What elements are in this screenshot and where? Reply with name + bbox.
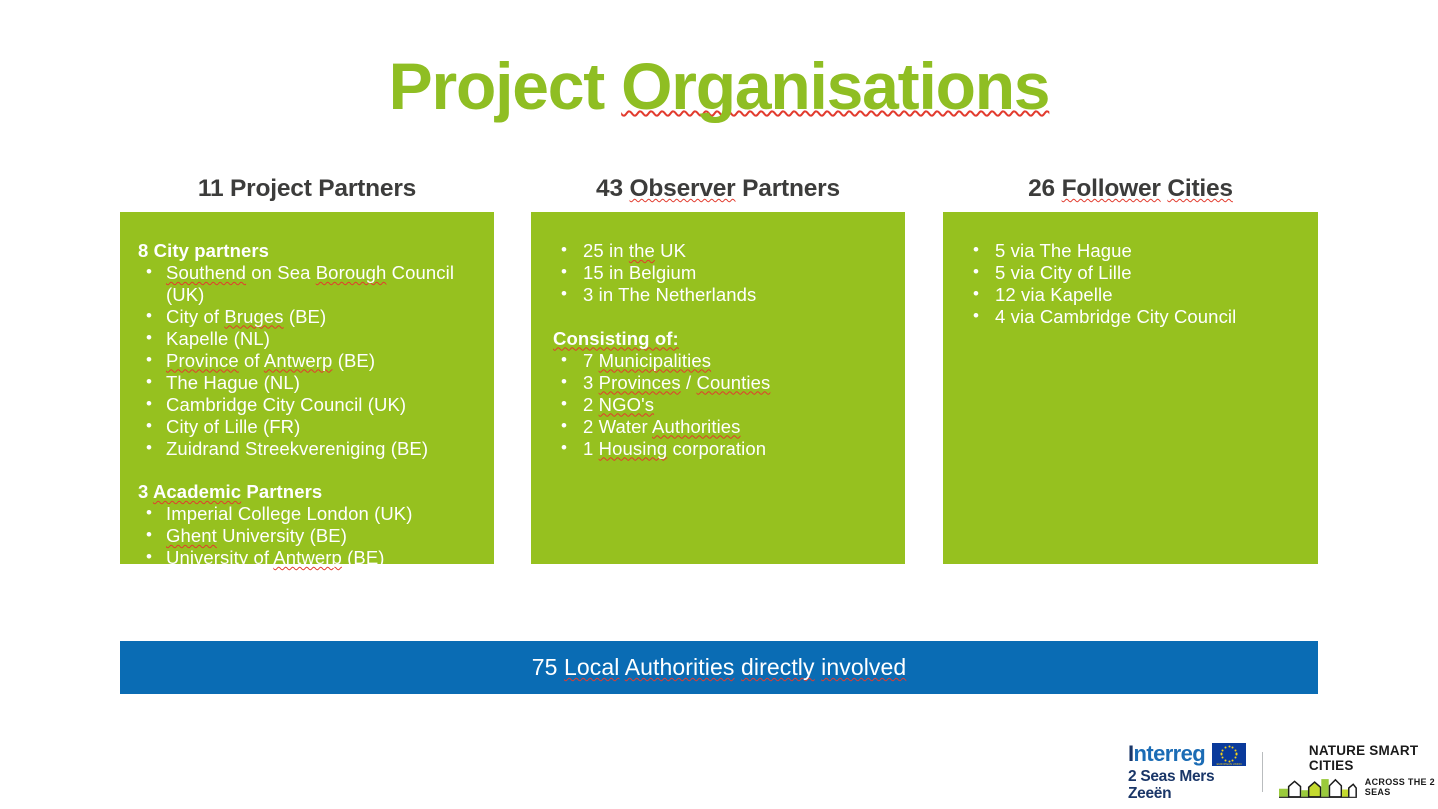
column-box-project-partners: 8 City partners Southend on Sea Borough … [120, 212, 494, 564]
interreg-logo: Interreg EUROPEAN UNION [1128, 743, 1246, 802]
list-item: 15 in Belgium [553, 262, 887, 284]
eu-stars [1222, 746, 1237, 761]
page-title-plain: Project [389, 49, 622, 123]
list-item: City of Lille (FR) [138, 416, 476, 438]
nsc-subtitle: ACROSS THE 2 SEAS [1365, 777, 1438, 797]
summary-banner: 75 Local Authorities directly involved [120, 641, 1318, 694]
column-heading-text: 11 Project Partners [198, 175, 416, 202]
list-item: Imperial College London (UK) [138, 503, 476, 525]
list-academic-partners: Imperial College London (UK) Ghent Unive… [138, 503, 476, 569]
interreg-wordmark-row: Interreg EUROPEAN UNION [1128, 743, 1246, 766]
page-title: Project Organisations [0, 48, 1438, 124]
list-item: University of Antwerp (BE) [138, 547, 476, 569]
list-item: 3 Provinces / Counties [553, 372, 887, 394]
list-item: 2 Water Authorities [553, 416, 887, 438]
list-observer-countries: 25 in the UK 15 in Belgium 3 in The Neth… [553, 240, 887, 306]
list-city-partners: Southend on Sea Borough Council (UK) Cit… [138, 262, 476, 459]
interreg-subtitle: 2 Seas Mers Zeeën [1128, 768, 1246, 802]
list-item: Ghent University (BE) [138, 525, 476, 547]
column-box-observer-partners: 25 in the UK 15 in Belgium 3 in The Neth… [531, 212, 905, 564]
nature-smart-cities-logo: NATURE SMART CITIES ACROSS THE 2 SEAS [1279, 743, 1438, 802]
column-heading-project-partners: 11 Project Partners [120, 172, 494, 212]
list-item: 2 NGO's [553, 394, 887, 416]
page-title-misspelled: Organisations [621, 49, 1049, 123]
list-item: 3 in The Netherlands [553, 284, 887, 306]
skyline-houses-icon [1279, 774, 1357, 802]
column-heading-observer-partners: 43 Observer Partners [531, 172, 905, 212]
eu-flag-caption: EUROPEAN UNION [1212, 763, 1246, 766]
list-item: Province of Antwerp (BE) [138, 350, 476, 372]
subheading-consisting-of: Consisting of: [553, 328, 887, 349]
list-item: 4 via Cambridge City Council [965, 306, 1300, 328]
list-item: 1 Housing corporation [553, 438, 887, 460]
list-item: Southend on Sea Borough Council (UK) [138, 262, 476, 305]
column-project-partners: 11 Project Partners 8 City partners Sout… [120, 172, 494, 564]
list-item: Cambridge City Council (UK) [138, 394, 476, 416]
list-item: 25 in the UK [553, 240, 887, 262]
list-item: City of Bruges (BE) [138, 306, 476, 328]
list-item: 7 Municipalities [553, 350, 887, 372]
list-item: The Hague (NL) [138, 372, 476, 394]
column-heading-follower-cities: 26 Follower Cities [943, 172, 1318, 212]
list-observer-types: 7 Municipalities 3 Provinces / Counties … [553, 350, 887, 460]
interreg-wordmark: Interreg [1128, 743, 1205, 765]
subheading-academic-partners: 3 Academic Partners [138, 481, 476, 502]
nsc-title: NATURE SMART CITIES [1309, 743, 1438, 773]
list-item: Zuidrand Streekvereniging (BE) [138, 438, 476, 460]
list-item: Kapelle (NL) [138, 328, 476, 350]
logo-divider [1262, 752, 1263, 792]
list-item: 5 via The Hague [965, 240, 1300, 262]
eu-flag-icon: EUROPEAN UNION [1212, 743, 1246, 766]
list-item: 12 via Kapelle [965, 284, 1300, 306]
list-follower-cities: 5 via The Hague 5 via City of Lille 12 v… [965, 240, 1300, 328]
nsc-row: ACROSS THE 2 SEAS [1279, 774, 1438, 802]
column-observer-partners: 43 Observer Partners 25 in the UK 15 in … [531, 172, 905, 564]
footer-logos: Interreg EUROPEAN UNION [1128, 746, 1438, 798]
summary-banner-text: 75 Local Authorities directly involved [532, 654, 907, 681]
column-follower-cities: 26 Follower Cities 5 via The Hague 5 via… [943, 172, 1318, 564]
list-item: 5 via City of Lille [965, 262, 1300, 284]
column-box-follower-cities: 5 via The Hague 5 via City of Lille 12 v… [943, 212, 1318, 564]
subheading-city-partners: 8 City partners [138, 240, 476, 261]
